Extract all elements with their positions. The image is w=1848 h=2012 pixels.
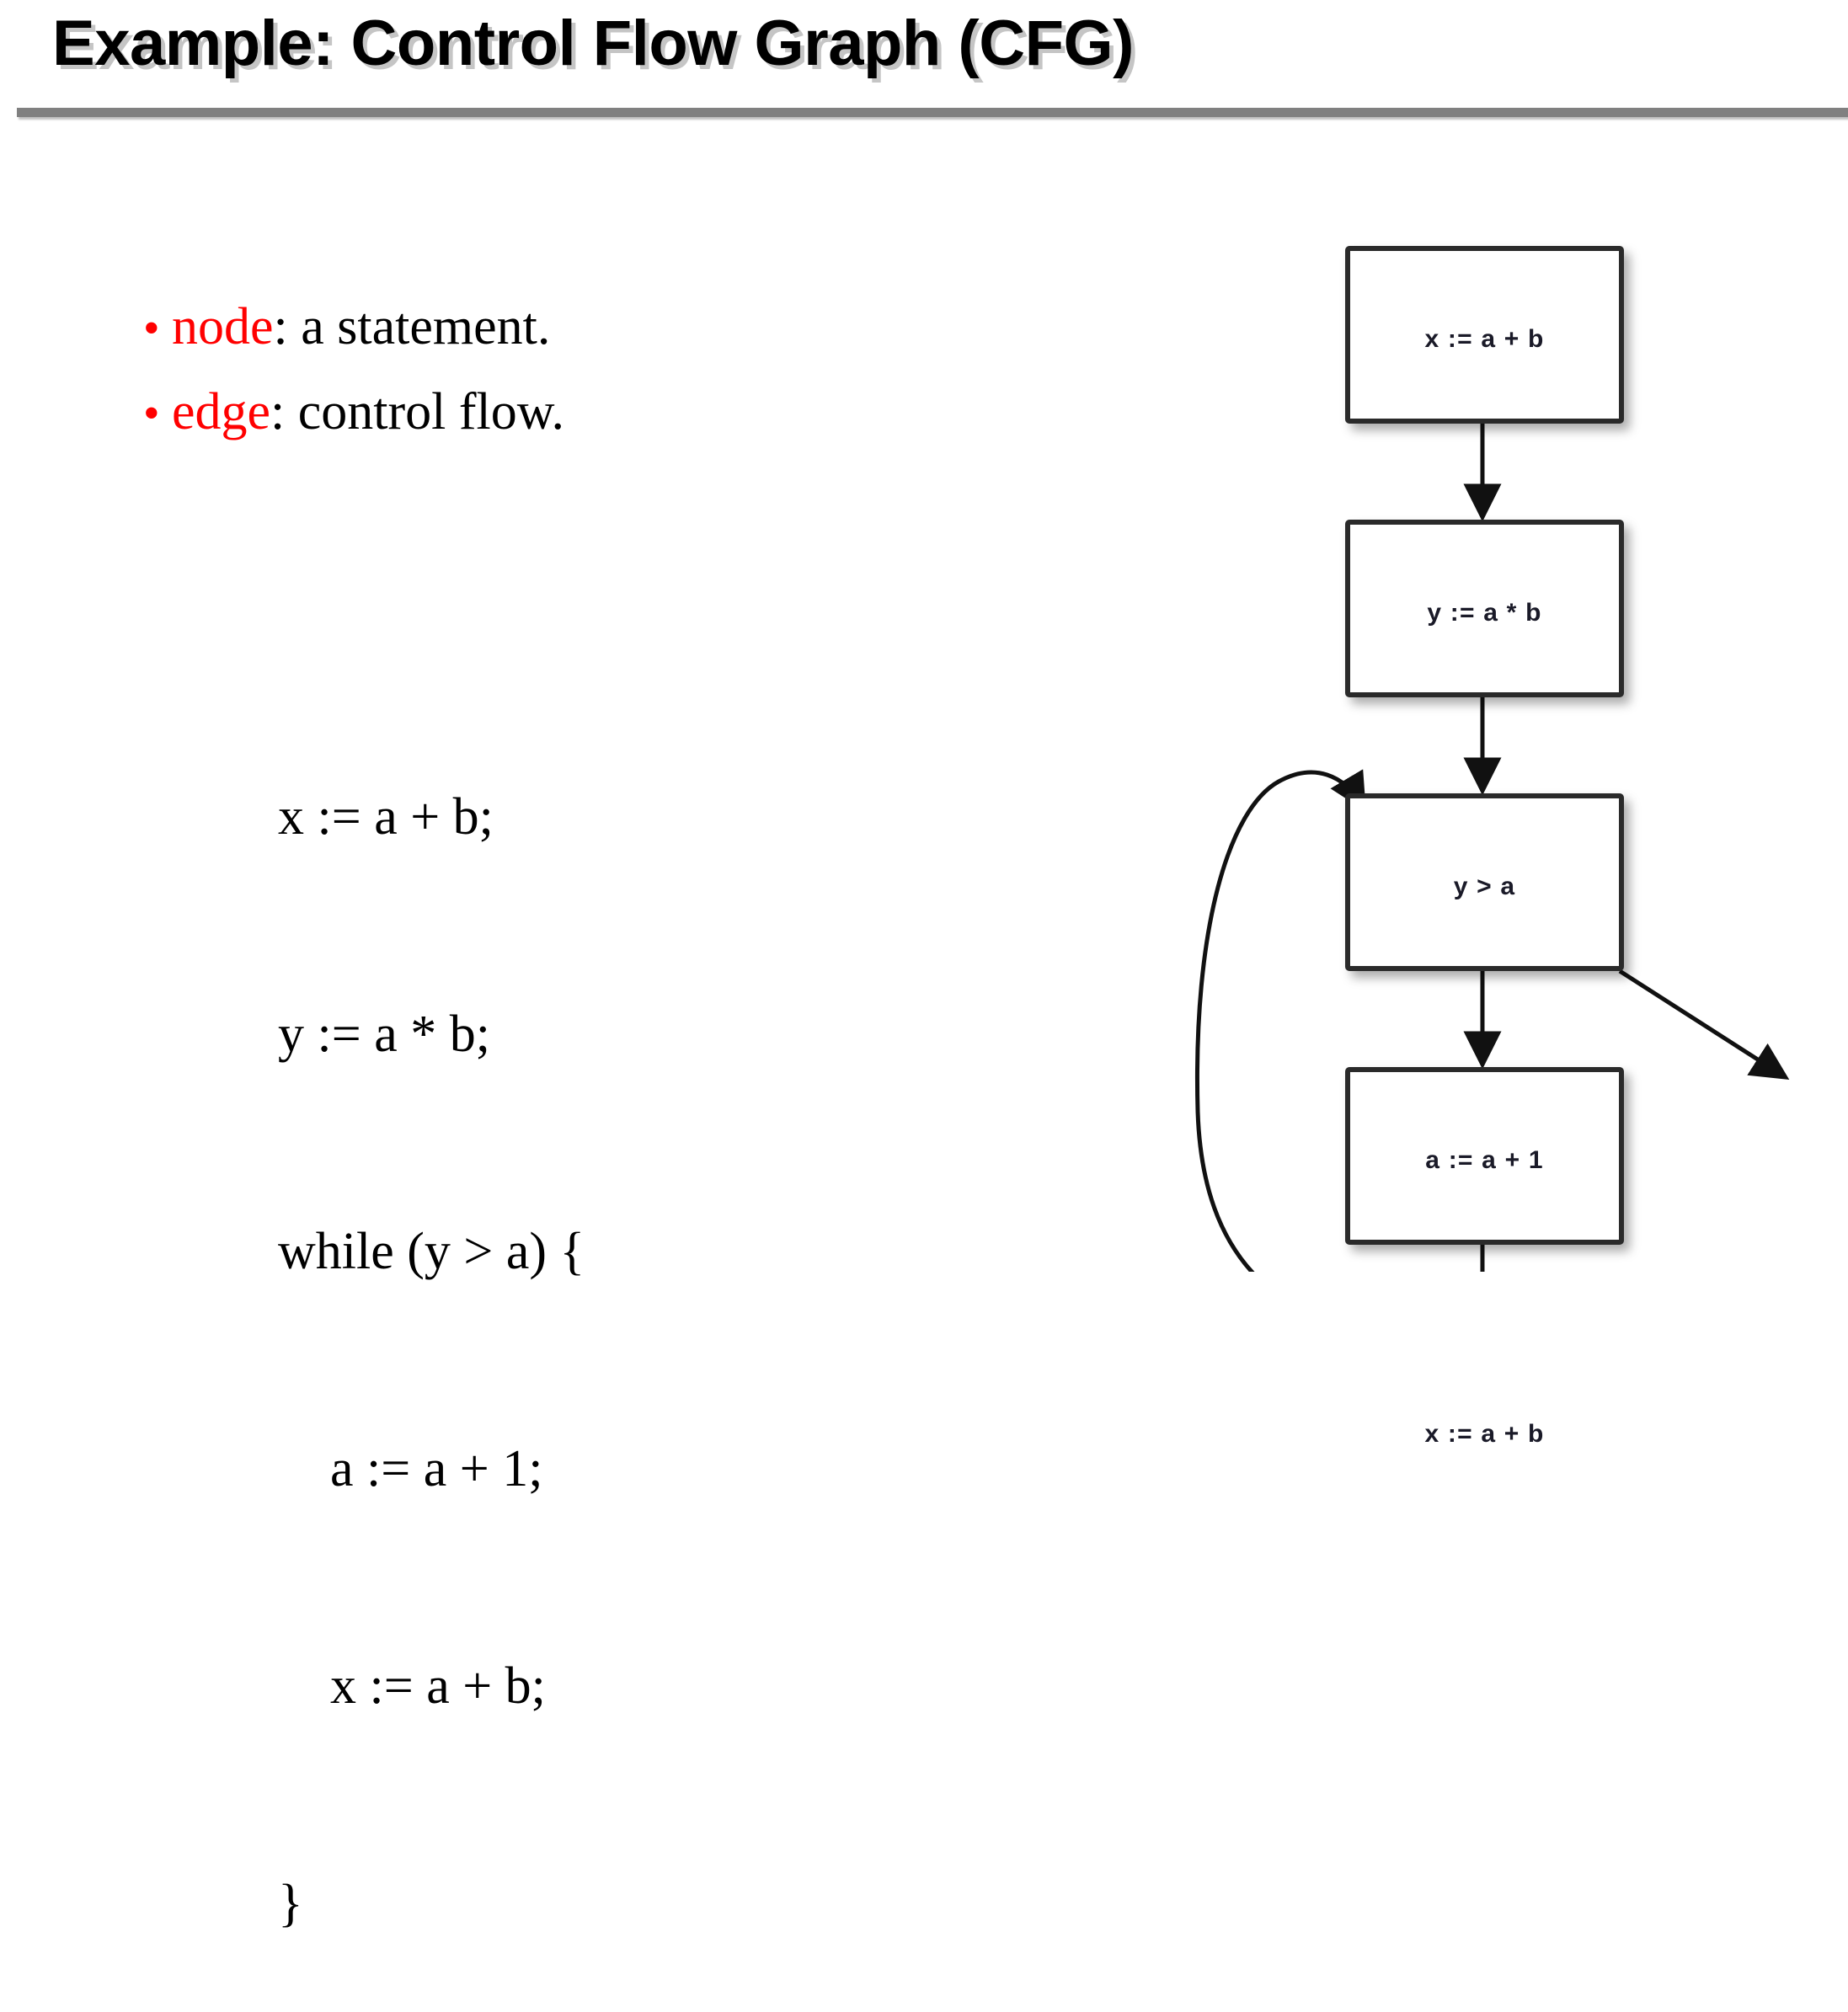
code-line: a := a + 1;: [278, 1433, 585, 1505]
code-line: x := a + b;: [278, 1650, 585, 1722]
cfg-node-label-n5: x := a + b: [1348, 1420, 1621, 1449]
cfg-node-n1[interactable]: [1348, 248, 1621, 421]
bullet-dot-icon: •: [143, 381, 172, 446]
bullet-dot-icon: •: [143, 296, 172, 361]
code-line: x := a + b;: [278, 781, 585, 853]
cfg-node-n4[interactable]: [1348, 1070, 1621, 1242]
control-flow-graph: x := a + b y := a * b y > a a := a + 1 x…: [1179, 219, 1845, 1272]
bullet-rest: : control flow.: [270, 383, 564, 440]
bullet-rest: : a statement.: [274, 298, 551, 355]
list-item: • edge: control flow.: [143, 378, 969, 446]
code-line: while (y > a) {: [278, 1215, 585, 1288]
cfg-node-n2[interactable]: [1348, 522, 1621, 695]
bullet-list: • node: a statement. • edge: control flo…: [143, 293, 969, 463]
bullet-text: edge: control flow.: [172, 378, 969, 446]
bullet-keyword: edge: [172, 383, 270, 440]
page-title: Example: Control Flow Graph (CFG): [52, 3, 1134, 84]
list-item: • node: a statement.: [143, 293, 969, 361]
code-snippet: x := a + b; y := a * b; while (y > a) { …: [278, 636, 585, 2012]
code-line: y := a * b;: [278, 998, 585, 1070]
bullet-keyword: node: [172, 298, 274, 355]
title-divider: [17, 108, 1848, 117]
cfg-canvas: [1179, 219, 1845, 1272]
cfg-edge-exit: [1620, 971, 1784, 1076]
bullet-text: node: a statement.: [172, 293, 969, 360]
code-line: }: [278, 1867, 585, 1940]
cfg-node-n3[interactable]: [1348, 796, 1621, 969]
